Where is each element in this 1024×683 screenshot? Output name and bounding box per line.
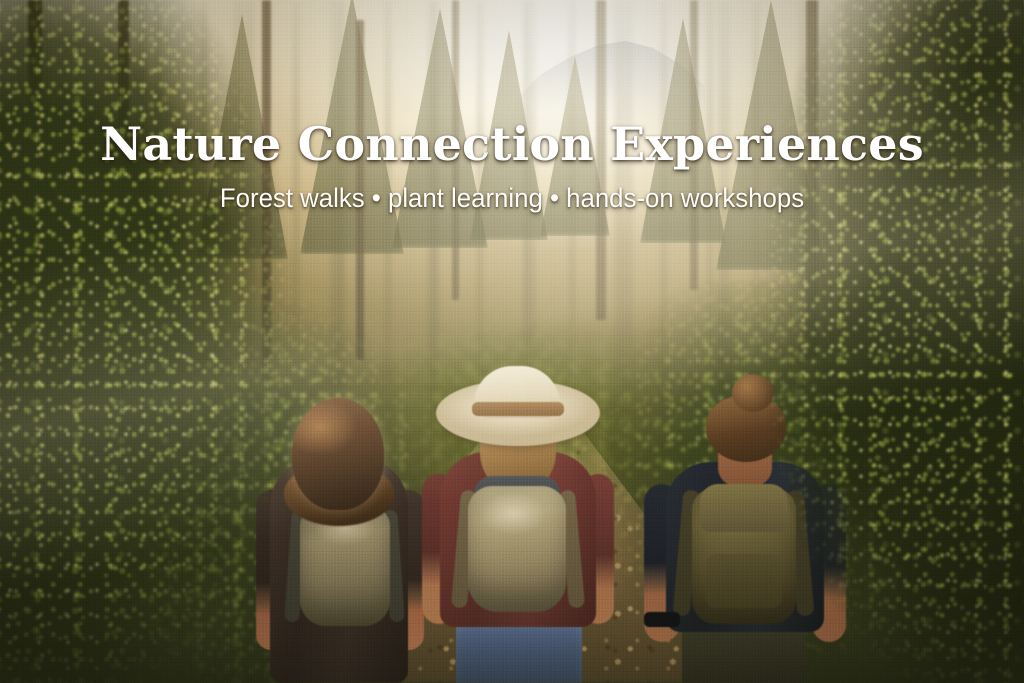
hiker-center — [418, 370, 618, 683]
foreground-foliage-left — [0, 0, 310, 683]
hero-banner: Nature Connection Experiences Forest wal… — [0, 0, 1024, 683]
tree-trunk — [596, 0, 606, 320]
tree-trunk — [690, 0, 698, 290]
tree-trunk — [452, 0, 459, 300]
hiker-center-hat-band — [472, 402, 564, 416]
foreground-foliage-right — [734, 0, 1024, 683]
hiker-center-backpack — [468, 486, 566, 612]
hiker-right-wristband — [644, 612, 680, 627]
